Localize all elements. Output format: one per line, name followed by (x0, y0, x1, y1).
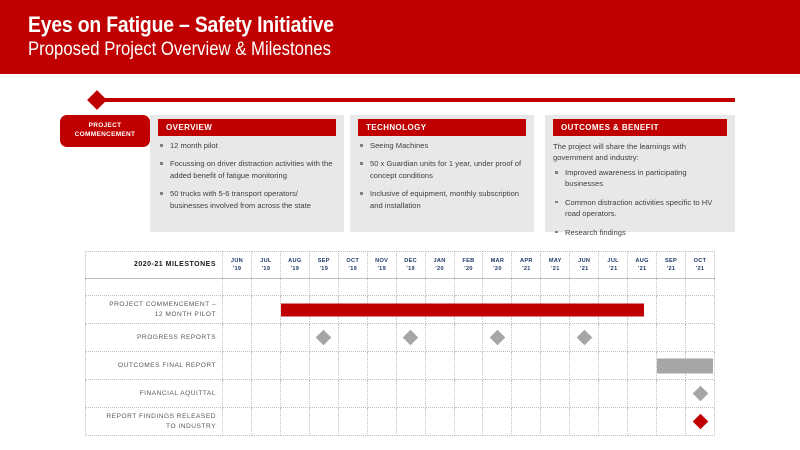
gantt-cell (541, 324, 570, 352)
gantt-cell-inner (455, 296, 483, 323)
gantt-month-header: JUL’19 (251, 252, 280, 279)
gantt-cell (338, 352, 367, 380)
gantt-cell-inner (628, 296, 656, 323)
gantt-cell-inner (397, 296, 425, 323)
gantt-cell (483, 324, 512, 352)
gantt-cell (657, 380, 686, 408)
gantt-cell-inner (512, 296, 540, 323)
table-row: FINANCIAL AQUITTAL (86, 380, 715, 408)
gantt-cell (686, 352, 715, 380)
card-outcomes-intro: The project will share the learnings wit… (553, 141, 725, 163)
gantt-cell (657, 296, 686, 324)
gantt-cell (396, 296, 425, 324)
gantt-cell-inner (628, 324, 656, 351)
gantt-spacer-cell (512, 279, 541, 296)
gantt-spacer-cell (628, 279, 657, 296)
gantt-cell-inner (223, 352, 251, 379)
gantt-cell-inner (657, 324, 685, 351)
gantt-cell-inner (686, 352, 714, 379)
card-outcomes: OUTCOMES & BENEFIT The project will shar… (545, 115, 735, 232)
gantt-cell (686, 324, 715, 352)
card-outcomes-bullets: Improved awareness in participating busi… (545, 167, 735, 253)
gantt-cell (628, 352, 657, 380)
gantt-cell-inner (599, 408, 627, 435)
gantt-cell (280, 324, 309, 352)
gantt-cell (309, 380, 338, 408)
gantt-spacer-cell (280, 279, 309, 296)
gantt-cell-inner (339, 352, 367, 379)
gantt-cell-inner (483, 352, 511, 379)
gantt-spacer-cell (223, 279, 252, 296)
gantt-cell (599, 296, 628, 324)
gantt-cell (367, 352, 396, 380)
gantt-cell-inner (368, 380, 396, 407)
gantt-spacer-cell (396, 279, 425, 296)
gantt-cell (570, 296, 599, 324)
gantt-cell (686, 296, 715, 324)
gantt-cell (483, 408, 512, 436)
gantt-spacer-cell (599, 279, 628, 296)
gantt-cell (251, 380, 280, 408)
gantt-cell-inner (657, 380, 685, 407)
gantt-cell (454, 324, 483, 352)
gantt-cell (396, 408, 425, 436)
gantt-cell-inner (281, 408, 309, 435)
gantt-cell-inner (252, 408, 280, 435)
gantt-month-header: JUL’21 (599, 252, 628, 279)
gantt-cell-inner (599, 324, 627, 351)
gantt-spacer-cell (425, 279, 454, 296)
gantt-cell (483, 352, 512, 380)
gantt-cell-inner (368, 408, 396, 435)
gantt-header-row: 2020-21 MILESTONESJUN’19JUL’19AUG’19SEP’… (86, 252, 715, 279)
gantt-cell-inner (599, 380, 627, 407)
gantt-cell (599, 324, 628, 352)
gantt-cell (425, 296, 454, 324)
gantt-spacer-cell (541, 279, 570, 296)
slide: Eyes on Fatigue – Safety Initiative Prop… (0, 0, 800, 450)
table-row: PROGRESS REPORTS (86, 324, 715, 352)
gantt-spacer-cell (367, 279, 396, 296)
gantt-cell (251, 408, 280, 436)
gantt-cell (223, 380, 252, 408)
list-item: 50 x Guardian units for 1 year, under pr… (358, 158, 524, 181)
gantt-cell-inner (686, 324, 714, 351)
gantt-cell (512, 408, 541, 436)
gantt-cell-inner (397, 380, 425, 407)
list-item: Inclusive of equipment, monthly subscrip… (358, 188, 524, 211)
gantt-cell-inner (281, 380, 309, 407)
gantt-cell (628, 380, 657, 408)
gantt-cell (541, 380, 570, 408)
gantt-cell (338, 324, 367, 352)
gantt-cell-inner (310, 352, 338, 379)
gantt-cell (280, 380, 309, 408)
gantt-cell-inner (455, 408, 483, 435)
gantt-month-header: JUN’21 (570, 252, 599, 279)
gantt-cell-inner (512, 324, 540, 351)
gantt-cell-inner (541, 352, 569, 379)
gantt-cell (396, 352, 425, 380)
gantt-cell (599, 380, 628, 408)
gantt-cell-inner (541, 296, 569, 323)
gantt-cell-inner (426, 296, 454, 323)
gantt-cell (309, 296, 338, 324)
gantt-row-label: REPORT FINDINGS RELEASEDTO INDUSTRY (86, 408, 223, 436)
gantt-cell-inner (455, 352, 483, 379)
gantt-cell (425, 352, 454, 380)
gantt-cell-inner (397, 324, 425, 351)
gantt-cell (309, 352, 338, 380)
gantt-cell-inner (570, 380, 598, 407)
gantt-cell-inner (310, 324, 338, 351)
gantt-month-header: SEP’21 (657, 252, 686, 279)
gantt-cell (367, 380, 396, 408)
gantt-cell (512, 352, 541, 380)
gantt-cell (280, 408, 309, 436)
gantt-spacer-cell (483, 279, 512, 296)
gantt-cell (367, 408, 396, 436)
list-item: Improved awareness in participating busi… (553, 167, 725, 190)
project-commencement-tab: PROJECT COMMENCEMENT (60, 115, 150, 147)
gantt-cell-inner (339, 296, 367, 323)
gantt-cell (686, 408, 715, 436)
gantt-month-header: OCT’21 (686, 252, 715, 279)
gantt-cell-inner (223, 380, 251, 407)
list-item: Focussing on driver distraction activiti… (158, 158, 334, 181)
milestone-diamond-icon (576, 330, 592, 346)
gantt-spacer-row (86, 279, 715, 296)
gantt-cell (280, 296, 309, 324)
gantt-month-header: MAY’21 (541, 252, 570, 279)
gantt-cell (251, 324, 280, 352)
gantt-cell (483, 296, 512, 324)
gantt-corner-label: 2020-21 MILESTONES (86, 252, 223, 279)
gantt-cell (541, 408, 570, 436)
gantt-cell-inner (541, 324, 569, 351)
gantt-cell (628, 296, 657, 324)
gantt-cell (541, 296, 570, 324)
gantt-cell-inner (310, 380, 338, 407)
gantt-cell-inner (281, 296, 309, 323)
gantt-cell (570, 408, 599, 436)
gantt-cell (223, 324, 252, 352)
gantt-month-header: FEB’20 (454, 252, 483, 279)
gantt-cell-inner (541, 380, 569, 407)
gantt-cell-inner (483, 408, 511, 435)
gantt-cell-inner (339, 380, 367, 407)
gantt-cell-inner (570, 408, 598, 435)
gantt-cell-inner (657, 296, 685, 323)
gantt-cell-inner (657, 408, 685, 435)
gantt-month-header: APR’21 (512, 252, 541, 279)
gantt-cell (628, 324, 657, 352)
gantt-spacer-cell (251, 279, 280, 296)
gantt-cell (396, 324, 425, 352)
page-subtitle: Proposed Project Overview & Milestones (28, 39, 331, 61)
gantt-cell (223, 352, 252, 380)
gantt-cell (512, 380, 541, 408)
gantt-cell-inner (397, 352, 425, 379)
gantt-cell-inner (570, 324, 598, 351)
gantt-cell (657, 352, 686, 380)
gantt-spacer-cell (657, 279, 686, 296)
list-item: Research findings (553, 227, 725, 238)
milestone-diamond-icon (403, 330, 419, 346)
gantt-cell-inner (512, 352, 540, 379)
gantt-cell-inner (628, 380, 656, 407)
gantt-cell (454, 352, 483, 380)
list-item: 50 trucks with 5-6 transport operators/ … (158, 188, 334, 211)
gantt-cell-inner (512, 408, 540, 435)
gantt-cell (251, 352, 280, 380)
project-commencement-label: PROJECT COMMENCEMENT (60, 122, 150, 140)
gantt-month-header: JUN’19 (223, 252, 252, 279)
gantt-month-header: NOV’19 (367, 252, 396, 279)
gantt-cell-inner (310, 408, 338, 435)
gantt-cell (512, 296, 541, 324)
gantt-cell-inner (483, 296, 511, 323)
gantt-cell (425, 380, 454, 408)
gantt-cell-inner (686, 408, 714, 435)
gantt-cell-inner (512, 380, 540, 407)
gantt-cell-inner (483, 380, 511, 407)
card-overview: OVERVIEW 12 month pilot Focussing on dri… (150, 115, 344, 232)
gantt-cell (396, 380, 425, 408)
card-overview-bullets: 12 month pilot Focussing on driver distr… (150, 140, 344, 226)
gantt-spacer-cell (454, 279, 483, 296)
gantt-cell-inner (455, 324, 483, 351)
gantt-cell (657, 408, 686, 436)
gantt-cell-inner (223, 296, 251, 323)
gantt-cell (425, 408, 454, 436)
gantt-cell-inner (310, 296, 338, 323)
gantt-row-label: PROJECT COMMENCEMENT –12 MONTH PILOT (86, 296, 223, 324)
gantt-cell (338, 408, 367, 436)
gantt-cell (570, 352, 599, 380)
gantt-cell (599, 352, 628, 380)
gantt-cell (367, 296, 396, 324)
gantt-month-header: SEP’19 (309, 252, 338, 279)
gantt-cell-inner (252, 380, 280, 407)
gantt-cell (454, 408, 483, 436)
gantt-cell (454, 296, 483, 324)
gantt-cell-inner (628, 352, 656, 379)
gantt-cell-inner (281, 324, 309, 351)
gantt-cell (686, 380, 715, 408)
gantt-cell (570, 380, 599, 408)
list-item: 12 month pilot (158, 140, 334, 151)
gantt-cell-inner (455, 380, 483, 407)
card-technology: TECHNOLOGY Seeing Machines 50 x Guardian… (350, 115, 534, 232)
gantt-cell-inner (599, 352, 627, 379)
gantt-cell-inner (686, 380, 714, 407)
gantt-spacer-cell (570, 279, 599, 296)
gantt-month-header: MAR’20 (483, 252, 512, 279)
gantt-cell-inner (368, 296, 396, 323)
slide-header: Eyes on Fatigue – Safety Initiative Prop… (0, 0, 800, 74)
table-row: OUTCOMES FINAL REPORT (86, 352, 715, 380)
gantt-cell (628, 408, 657, 436)
gantt-cell (223, 408, 252, 436)
gantt-cell (367, 324, 396, 352)
gantt-cell-inner (686, 296, 714, 323)
gantt-spacer-cell (338, 279, 367, 296)
gantt-cell-inner (252, 352, 280, 379)
gantt-cell (599, 408, 628, 436)
table-row: REPORT FINDINGS RELEASEDTO INDUSTRY (86, 408, 715, 436)
gantt-cell (309, 324, 338, 352)
gantt-row-label: PROGRESS REPORTS (86, 324, 223, 352)
gantt-cell (280, 352, 309, 380)
gantt-cell-inner (657, 352, 685, 379)
gantt-cell (483, 380, 512, 408)
gantt-cell-inner (426, 324, 454, 351)
gantt-cell (309, 408, 338, 436)
gantt-cell-inner (223, 408, 251, 435)
gantt-cell-inner (628, 408, 656, 435)
gantt-cell-inner (426, 408, 454, 435)
gantt-cell-inner (223, 324, 251, 351)
gantt-cell (223, 296, 252, 324)
gantt-cell-inner (483, 324, 511, 351)
gantt-cell-inner (281, 352, 309, 379)
gantt-cell (657, 324, 686, 352)
card-technology-bullets: Seeing Machines 50 x Guardian units for … (350, 140, 534, 226)
gantt-cell (570, 324, 599, 352)
gantt-month-header: JAN’20 (425, 252, 454, 279)
gantt-cell-inner (368, 352, 396, 379)
gantt-cell-inner (570, 296, 598, 323)
gantt-cell-inner (252, 324, 280, 351)
timeline-line (104, 98, 735, 102)
gantt-cell (425, 324, 454, 352)
gantt-month-header: DEC’19 (396, 252, 425, 279)
card-outcomes-heading: OUTCOMES & BENEFIT (553, 119, 727, 136)
card-overview-heading: OVERVIEW (158, 119, 336, 136)
milestone-diamond-icon (692, 386, 708, 402)
gantt-month-header: OCT’19 (338, 252, 367, 279)
milestone-diamond-icon (316, 330, 332, 346)
table-row: PROJECT COMMENCEMENT –12 MONTH PILOT (86, 296, 715, 324)
gantt-spacer-cell (686, 279, 715, 296)
gantt-cell-inner (397, 408, 425, 435)
gantt-cell-inner (339, 408, 367, 435)
gantt-month-header: AUG’21 (628, 252, 657, 279)
gantt-spacer-cell (309, 279, 338, 296)
gantt-cell (251, 296, 280, 324)
list-item: Seeing Machines (358, 140, 524, 151)
gantt-cell-inner (570, 352, 598, 379)
gantt-cell (541, 352, 570, 380)
gantt-cell-inner (339, 324, 367, 351)
gantt-cell-inner (426, 380, 454, 407)
gantt-cell-inner (599, 296, 627, 323)
gantt-cell (338, 380, 367, 408)
milestone-diamond-icon (692, 414, 708, 430)
gantt-month-header: AUG’19 (280, 252, 309, 279)
gantt-cell (338, 296, 367, 324)
gantt-cell-inner (252, 296, 280, 323)
gantt-cell (454, 380, 483, 408)
gantt-cell-inner (426, 352, 454, 379)
page-title: Eyes on Fatigue – Safety Initiative (28, 12, 334, 38)
milestone-diamond-icon (490, 330, 506, 346)
gantt-cell (512, 324, 541, 352)
gantt-row-label: OUTCOMES FINAL REPORT (86, 352, 223, 380)
gantt-row-label: FINANCIAL AQUITTAL (86, 380, 223, 408)
gantt-cell-inner (541, 408, 569, 435)
gantt-cell-inner (368, 324, 396, 351)
milestones-gantt-table: 2020-21 MILESTONESJUN’19JUL’19AUG’19SEP’… (85, 251, 715, 436)
list-item: Common distraction activities specific t… (553, 197, 725, 220)
card-technology-heading: TECHNOLOGY (358, 119, 526, 136)
gantt-spacer-cell (86, 279, 223, 296)
